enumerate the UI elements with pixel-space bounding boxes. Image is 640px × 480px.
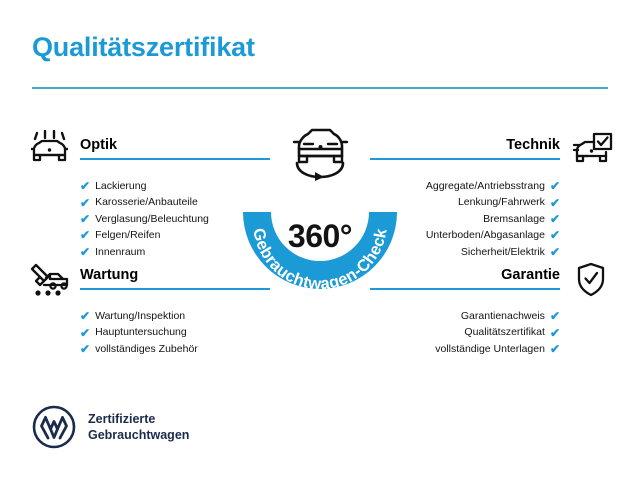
list-item-label: Hauptuntersuchung xyxy=(95,324,187,340)
header-divider xyxy=(32,87,608,89)
list-item: ✔vollständiges Zubehör xyxy=(80,341,270,357)
list-item-label: Lenkung/Fahrwerk xyxy=(458,194,545,210)
check-icon: ✔ xyxy=(550,343,560,355)
check-icon: ✔ xyxy=(550,246,560,258)
check-icon: ✔ xyxy=(550,229,560,241)
shield-check-icon xyxy=(564,258,618,302)
list-item-label: vollständiges Zubehör xyxy=(95,341,198,357)
page-title: Qualitätszertifikat xyxy=(32,32,255,63)
list-item-label: Verglasung/Beleuchtung xyxy=(95,211,209,227)
vw-logo xyxy=(32,405,76,449)
certificate-page: Qualitätszertifikat xyxy=(0,0,640,480)
list-item: ✔Wartung/Inspektion xyxy=(80,308,270,324)
list-item-label: Bremsanlage xyxy=(483,211,545,227)
check-icon: ✔ xyxy=(80,246,90,258)
list-item-label: Karosserie/Anbauteile xyxy=(95,194,198,210)
check-icon: ✔ xyxy=(550,213,560,225)
list-item-label: vollständige Unterlagen xyxy=(435,341,545,357)
footer-line-2: Gebrauchtwagen xyxy=(88,427,189,443)
list-item-label: Aggregate/Antriebsstrang xyxy=(426,178,545,194)
list-item-label: Qualitätszertifikat xyxy=(464,324,545,340)
badge-360-check: Gebrauchtwagen-Check 360° xyxy=(231,122,409,304)
car-shine-icon xyxy=(22,128,76,172)
list-item-label: Felgen/Reifen xyxy=(95,227,160,243)
check-icon: ✔ xyxy=(80,197,90,209)
check-icon: ✔ xyxy=(550,310,560,322)
check-icon: ✔ xyxy=(80,229,90,241)
check-icon: ✔ xyxy=(80,180,90,192)
check-icon: ✔ xyxy=(80,327,90,339)
footer-line-1: Zertifizierte xyxy=(88,411,189,427)
check-icon: ✔ xyxy=(80,343,90,355)
list-item: vollständige Unterlagen✔ xyxy=(370,341,560,357)
list-item-label: Wartung/Inspektion xyxy=(95,308,185,324)
list-item: ✔Hauptuntersuchung xyxy=(80,324,270,340)
badge-degrees-label: 360° xyxy=(231,218,409,255)
car-checkbox-icon xyxy=(564,128,618,172)
list-item-label: Garantienachweis xyxy=(461,308,545,324)
checklist-wartung: ✔Wartung/Inspektion ✔Hauptuntersuchung ✔… xyxy=(80,308,270,357)
list-item: Garantienachweis✔ xyxy=(370,308,560,324)
list-item-label: Unterboden/Abgasanlage xyxy=(426,227,545,243)
check-icon: ✔ xyxy=(550,327,560,339)
service-pen-car-icon xyxy=(22,258,76,302)
list-item: Qualitätszertifikat✔ xyxy=(370,324,560,340)
list-item-label: Lackierung xyxy=(95,178,146,194)
footer-brand: Zertifizierte Gebrauchtwagen xyxy=(32,405,189,449)
check-icon: ✔ xyxy=(80,310,90,322)
check-icon: ✔ xyxy=(550,180,560,192)
footer-text: Zertifizierte Gebrauchtwagen xyxy=(88,411,189,443)
check-icon: ✔ xyxy=(80,213,90,225)
check-icon: ✔ xyxy=(550,197,560,209)
checklist-garantie: Garantienachweis✔ Qualitätszertifikat✔ v… xyxy=(370,308,560,357)
